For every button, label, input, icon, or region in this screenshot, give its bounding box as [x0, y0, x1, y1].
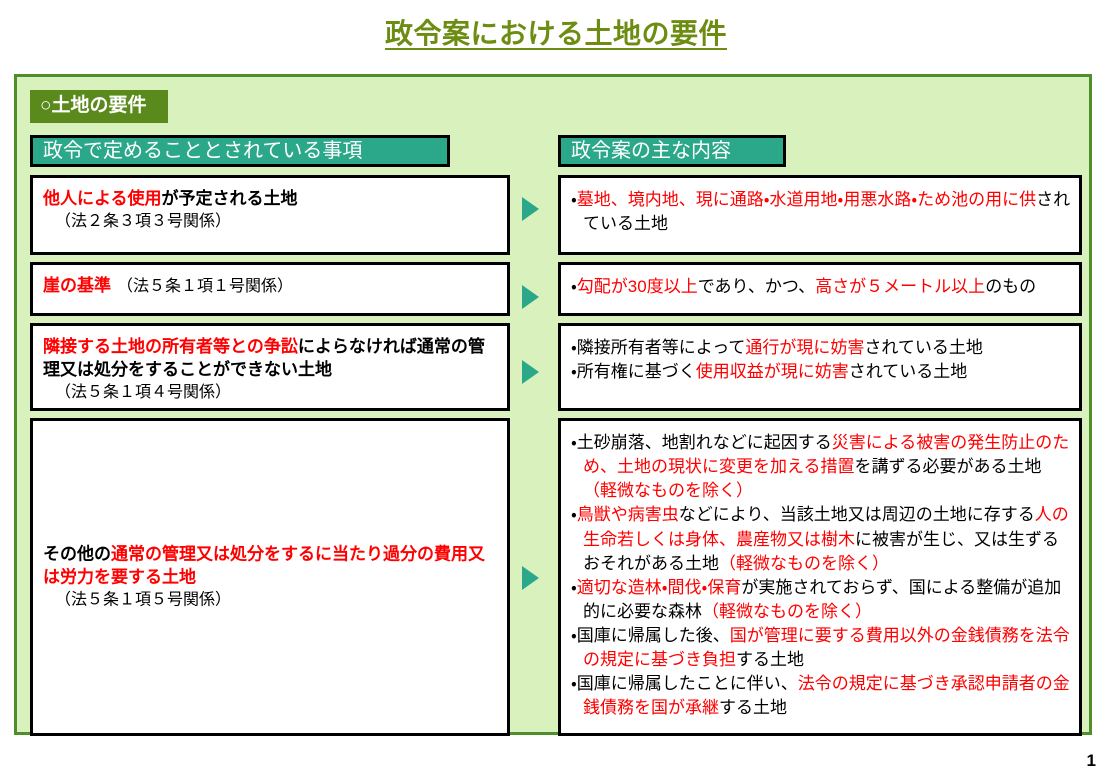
- content-bullet-line: ・国庫に帰属したことに伴い、法令の規定に基づき承認申請者の金銭債務を国が承継する…: [571, 672, 1071, 720]
- requirement-heading-1: 他人による使用が予定される土地: [43, 188, 499, 211]
- content-lines-4: ・土砂崩落、地割れなどに起因する災害による被害の発生防止のため、土地の現状に変更…: [571, 431, 1071, 721]
- content-lines-1: ・墓地、境内地、現に通路・水道用地・用悪水路・ため池の用に供されている土地: [571, 188, 1071, 236]
- requirement-heading-3: 隣接する土地の所有者等との争訟によらなければ通常の管理又は処分をすることができな…: [43, 336, 499, 382]
- content-segment: （軽微なものを除く）: [719, 554, 889, 573]
- content-bullet-line: ・墓地、境内地、現に通路・水道用地・用悪水路・ため池の用に供されている土地: [571, 188, 1071, 236]
- requirement-heading-2: 崖の基準（法５条１項１号関係）: [43, 275, 499, 298]
- content-segment: されている土地: [864, 338, 983, 357]
- content-segment: 高さが５メートル以上: [815, 277, 985, 296]
- requirement-box-4: その他の通常の管理又は処分をするに当たり過分の費用又は労力を要する土地 （法５条…: [30, 418, 510, 736]
- content-segment: 国庫に帰属した後、: [577, 626, 730, 645]
- content-segment: （軽微なものを除く）: [583, 481, 753, 500]
- requirement-box-1: 他人による使用が予定される土地 （法２条３項３号関係）: [30, 175, 510, 255]
- right-triangle-arrow-icon-1: [522, 197, 539, 221]
- content-box-4: ・土砂崩落、地割れなどに起因する災害による被害の発生防止のため、土地の現状に変更…: [558, 418, 1082, 736]
- content-segment: されている土地: [849, 362, 968, 381]
- content-box-1: ・墓地、境内地、現に通路・水道用地・用悪水路・ため池の用に供されている土地: [558, 175, 1082, 255]
- content-bullet-line: ・勾配が30度以上であり、かつ、高さが５メートル以上のもの: [571, 275, 1071, 299]
- requirement-reference-3: （法５条１項４号関係）: [43, 382, 499, 404]
- section-header-bar: ○土地の要件: [30, 90, 168, 123]
- requirement-heading-1-red: 他人による使用: [43, 189, 162, 208]
- content-bullet-line: ・隣接所有者等によって通行が現に妨害されている土地: [571, 336, 1071, 360]
- left-column: 他人による使用が予定される土地 （法２条３項３号関係） 崖の基準（法５条１項１号…: [30, 175, 510, 743]
- right-triangle-arrow-icon-4: [522, 566, 539, 590]
- requirement-heading-4: その他の通常の管理又は処分をするに当たり過分の費用又は労力を要する土地: [43, 543, 499, 589]
- content-frame: ○土地の要件 政令で定めることとされている事項 政令案の主な内容 他人による使用…: [14, 74, 1092, 735]
- requirement-box-4-content: その他の通常の管理又は処分をするに当たり過分の費用又は労力を要する土地 （法５条…: [43, 543, 499, 610]
- content-segment: 土砂崩落、地割れなどに起因する: [577, 433, 832, 452]
- content-segment: のもの: [985, 277, 1036, 296]
- content-box-3: ・隣接所有者等によって通行が現に妨害されている土地・所有権に基づく使用収益が現に…: [558, 323, 1082, 411]
- content-segment: する土地: [736, 650, 804, 669]
- requirement-heading-4-black: その他の: [43, 544, 111, 563]
- right-triangle-arrow-icon-2: [522, 285, 539, 309]
- requirement-reference-2: （法５条１項１号関係）: [111, 278, 293, 295]
- requirement-heading-2-red: 崖の基準: [43, 276, 111, 295]
- right-column: ・墓地、境内地、現に通路・水道用地・用悪水路・ため池の用に供されている土地 ・勾…: [558, 175, 1082, 743]
- content-segment: 通行が現に妨害: [745, 338, 864, 357]
- content-segment: 勾配が30度以上: [577, 277, 698, 296]
- content-segment: を講ずる必要がある土地: [855, 457, 1042, 476]
- content-segment: 国庫に帰属したことに伴い、: [577, 674, 798, 693]
- content-bullet-line: ・適切な造林・間伐・保育が実施されておらず、国による整備が追加的に必要な森林（軽…: [571, 576, 1071, 624]
- requirement-box-2: 崖の基準（法５条１項１号関係）: [30, 262, 510, 316]
- content-segment: 鳥獣や病害虫: [577, 505, 679, 524]
- requirement-reference-4: （法５条１項５号関係）: [43, 589, 499, 611]
- content-segment: 所有権に基づく: [577, 362, 696, 381]
- page-number: 1: [1087, 751, 1096, 771]
- content-box-2: ・勾配が30度以上であり、かつ、高さが５メートル以上のもの: [558, 262, 1082, 316]
- content-bullet-line: ・土砂崩落、地割れなどに起因する災害による被害の発生防止のため、土地の現状に変更…: [571, 431, 1071, 503]
- content-segment: 墓地、境内地、現に通路・水道用地・用悪水路・ため池の用に供: [577, 190, 1036, 209]
- right-triangle-arrow-icon-3: [522, 360, 539, 384]
- content-bullet-line: ・鳥獣や病害虫などにより、当該土地又は周辺の土地に存する人の生命若しくは身体、農…: [571, 503, 1071, 575]
- requirement-heading-1-black: が予定される土地: [162, 189, 298, 208]
- content-segment: などにより、当該土地又は周辺の土地に存する: [679, 505, 1035, 524]
- content-segment: 適切な造林・間伐・保育: [577, 578, 742, 597]
- content-segment: （軽微なものを除く）: [702, 602, 872, 621]
- column-header-left: 政令で定めることとされている事項: [30, 135, 450, 167]
- requirement-heading-3-red: 隣接する土地の所有者等との争訟: [43, 337, 298, 356]
- content-segment: であり、かつ、: [698, 277, 815, 296]
- page-title: 政令案における土地の要件: [0, 0, 1112, 56]
- content-segment: 使用収益が現に妨害: [696, 362, 849, 381]
- content-segment: 隣接所有者等によって: [577, 338, 746, 357]
- requirement-reference-1: （法２条３項３号関係）: [43, 211, 499, 233]
- column-header-right: 政令案の主な内容: [558, 135, 786, 167]
- requirement-box-3: 隣接する土地の所有者等との争訟によらなければ通常の管理又は処分をすることができな…: [30, 323, 510, 411]
- content-bullet-line: ・国庫に帰属した後、国が管理に要する費用以外の金銭債務を法令の規定に基づき負担す…: [571, 624, 1071, 672]
- content-bullet-line: ・所有権に基づく使用収益が現に妨害されている土地: [571, 360, 1071, 384]
- content-lines-2: ・勾配が30度以上であり、かつ、高さが５メートル以上のもの: [571, 275, 1071, 299]
- content-segment: する土地: [719, 698, 787, 717]
- content-lines-3: ・隣接所有者等によって通行が現に妨害されている土地・所有権に基づく使用収益が現に…: [571, 336, 1071, 384]
